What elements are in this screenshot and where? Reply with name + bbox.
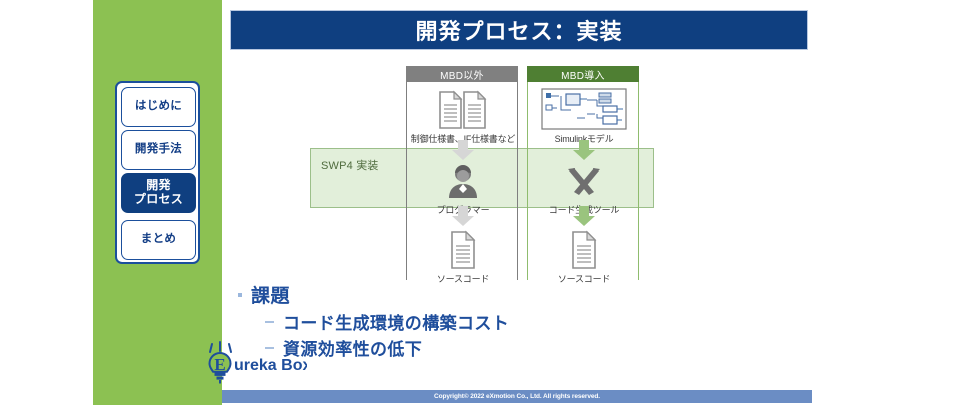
column-header: MBD以外	[406, 66, 518, 82]
sidebar-item-label-line2: プロセス	[134, 193, 183, 207]
sidebar-item-kaihatsu-shuhou[interactable]: 開発手法	[121, 130, 196, 170]
bullet-sub-text: コード生成環境の構築コスト	[283, 309, 509, 334]
arrow-down-gray	[407, 206, 519, 226]
simulink-model-icon	[528, 88, 640, 130]
arrow-down-green	[528, 206, 640, 226]
bullet-sub-item: コード生成環境の構築コスト	[265, 309, 658, 334]
logo-letter: E	[214, 355, 225, 374]
bullet-dash-icon	[265, 321, 274, 323]
diagram-cell-specs: 制御仕様書、IF仕様書など	[407, 88, 519, 145]
swp4-band-label: SWP4 実装	[321, 157, 379, 173]
diagram-cell-simulink-model: Simulinkモデル	[528, 88, 640, 145]
arrow-down-gray	[407, 140, 519, 160]
process-diagram: SWP4 実装 MBD以外	[300, 60, 670, 280]
code-generation-tool-icon	[528, 163, 640, 201]
sidebar-item-label: 開発	[134, 179, 183, 193]
bullet-heading-text: 課題	[251, 281, 290, 308]
arrow-down-green	[528, 140, 640, 160]
footer-bar: Copyright© 2022 eXmotion Co., Ltd. All r…	[222, 390, 812, 403]
bullet-list: 課題 コード生成環境の構築コスト 資源効率性の低下	[238, 281, 658, 360]
bullet-dot-icon	[238, 293, 242, 297]
sidebar-item-label: はじめに	[135, 100, 182, 113]
bullet-sub-item: 資源効率性の低下	[265, 335, 658, 360]
bullet-heading: 課題	[238, 281, 658, 308]
bullet-dash-icon	[265, 347, 274, 349]
sidebar: はじめに 開発手法 開発 プロセス まとめ	[93, 0, 222, 405]
bulb-base2	[217, 377, 224, 380]
slide-canvas: はじめに 開発手法 開発 プロセス まとめ	[0, 0, 960, 405]
source-code-document-icon	[528, 228, 640, 270]
sidebar-item-label: まとめ	[141, 233, 176, 246]
page-title: 開発プロセス：実装	[230, 10, 808, 50]
column-mbd-igai: MBD以外	[406, 66, 518, 280]
diagram-cell-source-code: ソースコード	[528, 228, 640, 285]
sidebar-item-kaihatsu-process[interactable]: 開発 プロセス	[121, 173, 196, 213]
column-mbd-dounyuu: MBD導入	[527, 66, 639, 280]
source-code-document-icon	[407, 228, 519, 270]
bullet-sub-text: 資源効率性の低下	[283, 335, 422, 360]
diagram-cell-source-code: ソースコード	[407, 228, 519, 285]
sidebar-item-label: 開発手法	[135, 143, 182, 156]
sidebar-item-matome[interactable]: まとめ	[121, 220, 196, 260]
programmer-icon	[407, 163, 519, 201]
copyright-text: Copyright© 2022 eXmotion Co., Ltd. All r…	[434, 393, 600, 400]
sidebar-nav: はじめに 開発手法 開発 プロセス まとめ	[115, 81, 200, 264]
documents-icon	[407, 88, 519, 130]
sidebar-item-hajimeni[interactable]: はじめに	[121, 87, 196, 127]
page-title-text: 開発プロセス：実装	[415, 14, 622, 46]
column-header: MBD導入	[527, 66, 639, 82]
